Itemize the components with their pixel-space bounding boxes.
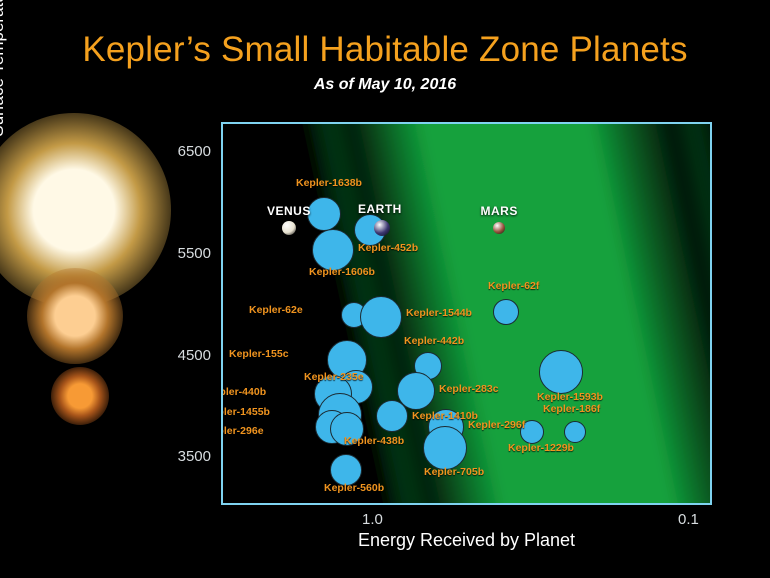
star-medium-orange: [27, 268, 124, 365]
planet-label-kepler-296e: Kepler-296e: [221, 425, 264, 437]
star-large-yellow: [0, 113, 171, 306]
plot-area: Kepler-1638bKepler-452bKepler-1606bKeple…: [221, 122, 712, 505]
planet-marker-kepler-705b[interactable]: [423, 426, 467, 470]
planet-label-kepler-1593b: Kepler-1593b: [537, 391, 603, 403]
planet-label-kepler-438b: Kepler-438b: [344, 435, 404, 447]
y-tick-label-4500: 4500: [178, 347, 211, 364]
planet-label-kepler-296f: Kepler-296f: [468, 419, 525, 431]
page-subtitle: As of May 10, 2016: [0, 76, 770, 94]
planet-label-kepler-1544b: Kepler-1544b: [406, 307, 472, 319]
planet-label-kepler-186f: Kepler-186f: [543, 403, 600, 415]
star-small-orange: [51, 367, 110, 426]
solar-body-venus[interactable]: [282, 221, 296, 235]
solar-body-label-venus: VENUS: [267, 204, 311, 218]
planet-label-kepler-1229b: Kepler-1229b: [508, 442, 574, 454]
planet-label-kepler-442b: Kepler-442b: [404, 335, 464, 347]
y-tick-label-3500: 3500: [178, 448, 211, 465]
solar-body-earth[interactable]: [374, 220, 390, 236]
planet-label-kepler-705b: Kepler-705b: [424, 466, 484, 478]
planet-label-kepler-235e: Kepler-235e: [304, 371, 364, 383]
planet-label-kepler-62f: Kepler-62f: [488, 280, 539, 292]
planet-label-kepler-62e: Kepler-62e: [249, 304, 303, 316]
kepler-habitable-zone-infographic: Kepler’s Small Habitable Zone Planets As…: [0, 0, 770, 578]
planet-marker-kepler-186f[interactable]: [564, 421, 586, 443]
planet-marker-kepler-62f[interactable]: [493, 299, 519, 325]
x-tick-label-0.1: 0.1: [678, 511, 699, 528]
x-tick-label-1.0: 1.0: [362, 511, 383, 528]
solar-body-label-mars: MARS: [481, 204, 518, 218]
planet-marker-kepler-1544b[interactable]: [360, 296, 402, 338]
planet-marker-kepler-1606b[interactable]: [312, 229, 354, 271]
x-axis-title: Energy Received by Planet: [221, 530, 712, 551]
solar-body-mars[interactable]: [493, 222, 505, 234]
planet-label-kepler-283c: Kepler-283c: [439, 383, 499, 395]
planet-label-kepler-440b: Kepler-440b: [221, 386, 266, 398]
page-title: Kepler’s Small Habitable Zone Planets: [0, 30, 770, 70]
planet-label-kepler-452b: Kepler-452b: [358, 242, 418, 254]
planet-label-kepler-1455b: Kepler-1455b: [221, 406, 270, 418]
planet-marker-kepler-1638b[interactable]: [307, 197, 341, 231]
y-axis-title: Surface Temperature of Star: [0, 0, 8, 200]
solar-body-label-earth: EARTH: [358, 202, 402, 216]
planet-marker-kepler-1410b[interactable]: [376, 400, 408, 432]
planet-label-kepler-1638b: Kepler-1638b: [296, 177, 362, 189]
y-tick-label-5500: 5500: [178, 245, 211, 262]
y-tick-label-6500: 6500: [178, 143, 211, 160]
planet-marker-kepler-1593b[interactable]: [539, 350, 583, 394]
planet-label-kepler-155c: Kepler-155c: [229, 348, 289, 360]
planet-label-kepler-1606b: Kepler-1606b: [309, 266, 375, 278]
planet-label-kepler-560b: Kepler-560b: [324, 482, 384, 494]
